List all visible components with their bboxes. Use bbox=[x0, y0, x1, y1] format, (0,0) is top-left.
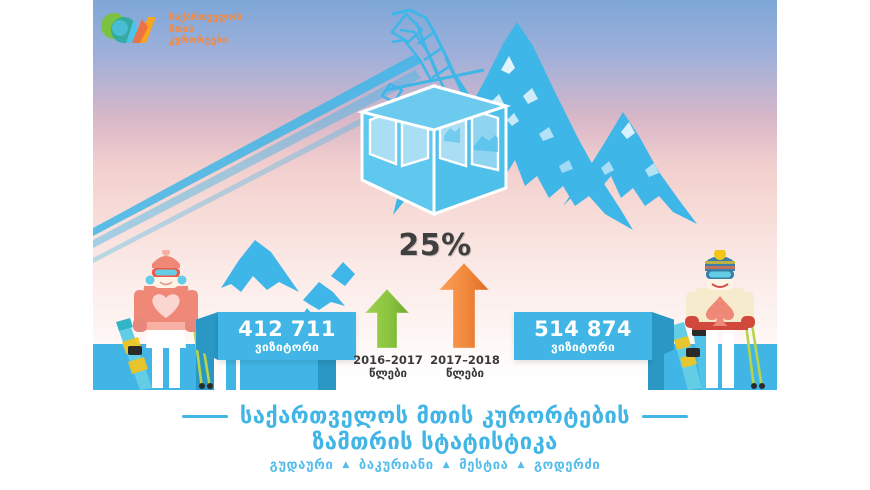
banner-fold-left bbox=[196, 312, 218, 360]
logo-mark-icon bbox=[100, 9, 162, 51]
banner-fold-right bbox=[652, 312, 674, 360]
infographic-poster: 25% საქართველოს მთის კურორტები bbox=[0, 0, 870, 490]
logo-text: საქართველოს მთის კურორტები bbox=[169, 9, 242, 47]
skier-man-icon bbox=[662, 250, 778, 390]
snow-chunk-a bbox=[226, 356, 236, 390]
title-rule-left bbox=[182, 415, 228, 418]
resort-gudauri[interactable]: გუდაური bbox=[270, 458, 334, 473]
logo[interactable]: საქართველოს მთის კურორტები bbox=[100, 9, 242, 51]
gondola-cable-car-icon bbox=[330, 8, 520, 224]
visitors-unit-2017-2018: ვიზიტორი bbox=[551, 340, 615, 354]
year-unit-right: წლები bbox=[428, 367, 502, 380]
year-unit-left: წლები bbox=[352, 367, 424, 380]
page-title: საქართველოს მთის კურორტების ზამთრის სტატ… bbox=[0, 404, 870, 455]
logo-line-2: მთის bbox=[169, 24, 242, 36]
stat-banner-2016-2017: 412 711 ვიზიტორი bbox=[196, 312, 356, 360]
visitors-unit-2016-2017: ვიზიტორი bbox=[255, 340, 319, 354]
year-label-2017-2018: 2017–2018 წლები bbox=[428, 354, 502, 380]
resort-separator-2: ▲ bbox=[443, 459, 451, 472]
title-line-2: ზამთრის სტატისტიკა bbox=[0, 430, 870, 455]
arrow-up-orange-icon bbox=[438, 262, 490, 350]
banner-body-left: 412 711 ვიზიტორი bbox=[218, 312, 356, 360]
logo-line-1: საქართველოს bbox=[169, 12, 242, 24]
title-line-1: საქართველოს მთის კურორტების bbox=[240, 404, 630, 429]
banner-body-right: 514 874 ვიზიტორი bbox=[514, 312, 652, 360]
stat-banner-2017-2018: 514 874 ვიზიტორი bbox=[514, 312, 674, 360]
resort-list: გუდაური ▲ ბაკურიანი ▲ მესტია ▲ გოდერძი bbox=[0, 458, 870, 473]
title-rule-right bbox=[642, 415, 688, 418]
visitors-value-2016-2017: 412 711 bbox=[238, 319, 336, 340]
resort-mestia[interactable]: მესტია bbox=[459, 458, 508, 473]
resort-separator-1: ▲ bbox=[342, 459, 350, 472]
logo-line-3: კურორტები bbox=[169, 35, 242, 47]
resort-separator-3: ▲ bbox=[517, 459, 525, 472]
arrow-up-green-icon bbox=[364, 288, 410, 350]
visitors-value-2017-2018: 514 874 bbox=[534, 319, 632, 340]
year-label-2016-2017: 2016–2017 წლები bbox=[352, 354, 424, 380]
resort-goderdzi[interactable]: გოდერძი bbox=[534, 458, 600, 473]
resort-bakuriani[interactable]: ბაკურიანი bbox=[359, 458, 434, 473]
